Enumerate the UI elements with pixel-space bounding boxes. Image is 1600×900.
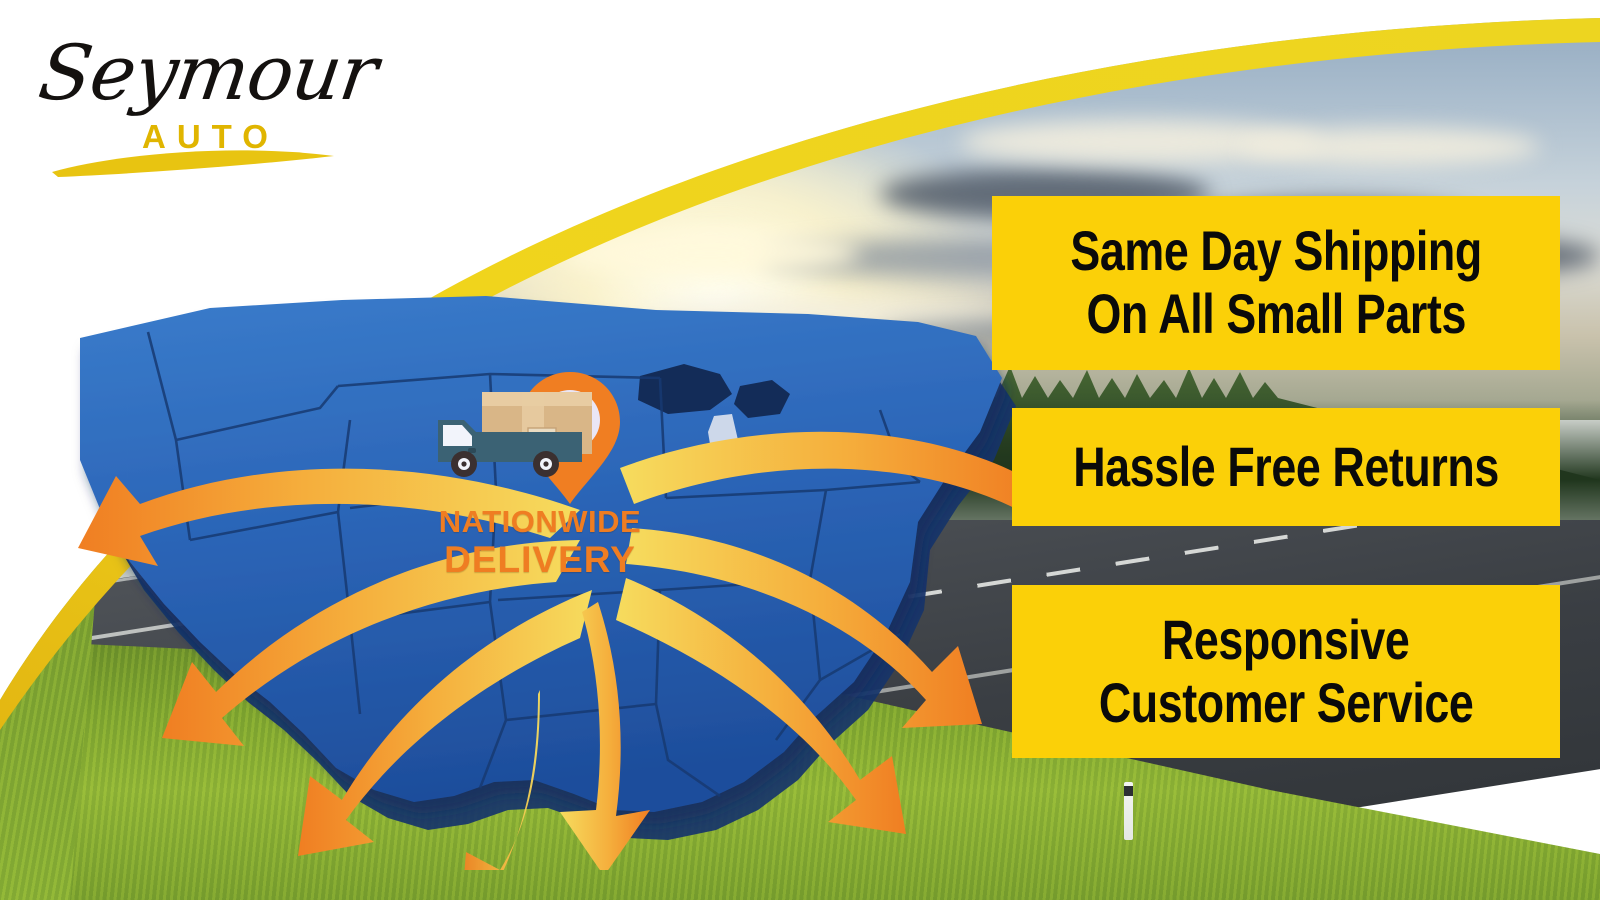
feature-box-same-day-shipping: Same Day Shipping On All Small Parts bbox=[992, 196, 1560, 370]
feature-line: Responsive bbox=[1162, 609, 1409, 672]
logo-wordmark: Seymour bbox=[34, 28, 383, 117]
feature-box-responsive-customer-service: Responsive Customer Service bbox=[1012, 585, 1560, 758]
delivery-caption-line1: NATIONWIDE bbox=[430, 506, 650, 537]
cloud bbox=[1240, 128, 1540, 166]
feature-line: On All Small Parts bbox=[1086, 283, 1466, 346]
roadside-marker-post bbox=[1124, 782, 1133, 840]
feature-line: Customer Service bbox=[1099, 672, 1474, 735]
delivery-caption-line2: DELIVERY bbox=[430, 541, 650, 578]
feature-box-hassle-free-returns: Hassle Free Returns bbox=[1012, 408, 1560, 526]
nationwide-delivery-badge: NATIONWIDE DELIVERY bbox=[430, 370, 660, 580]
logo-subtext: AUTO bbox=[142, 118, 279, 156]
feature-line: Same Day Shipping bbox=[1070, 220, 1481, 283]
brand-logo[interactable]: Seymour AUTO bbox=[34, 26, 344, 176]
feature-line: Hassle Free Returns bbox=[1073, 436, 1499, 499]
delivery-illustration bbox=[430, 370, 660, 510]
cloud bbox=[560, 230, 860, 276]
promotional-banner: Seymour AUTO bbox=[0, 0, 1600, 900]
delivery-caption: NATIONWIDE DELIVERY bbox=[430, 506, 650, 578]
